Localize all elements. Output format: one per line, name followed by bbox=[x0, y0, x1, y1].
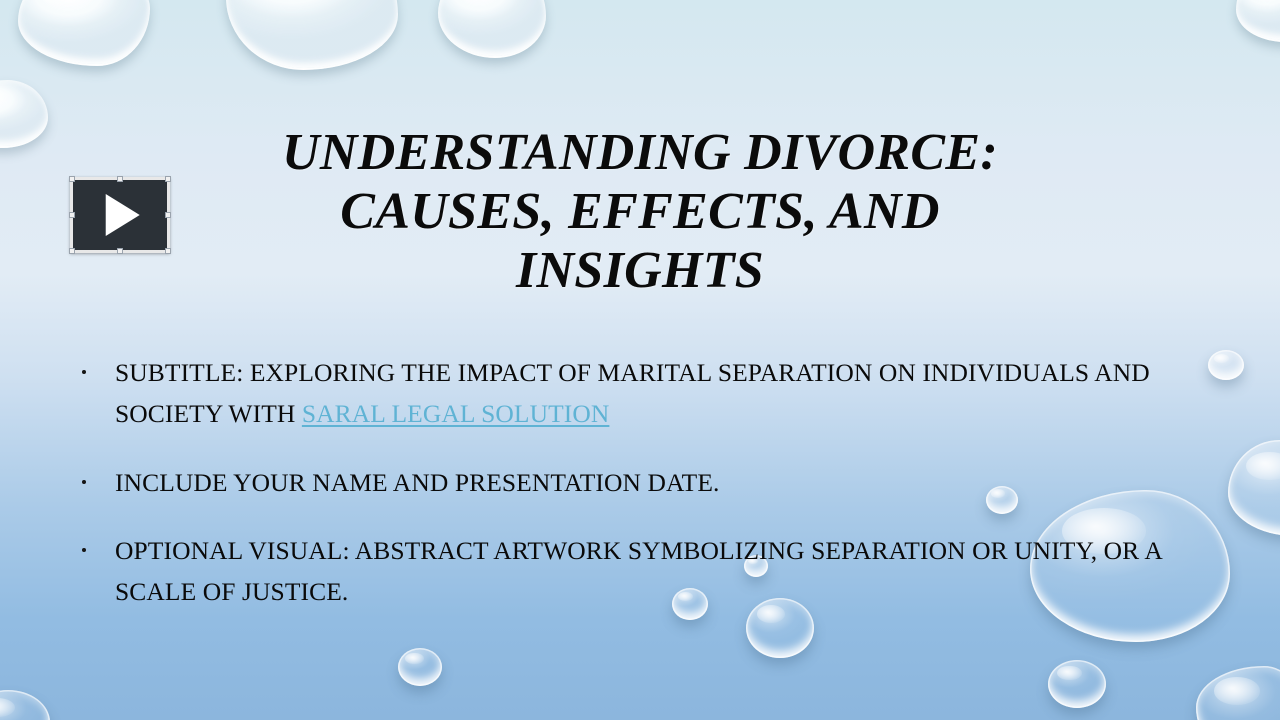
resize-handle-bottom-left[interactable] bbox=[69, 248, 75, 254]
slide-title-line-1: UNDERSTANDING DIVORCE: bbox=[200, 123, 1080, 182]
bullet-text: SUBTITLE: EXPLORING THE IMPACT OF MARITA… bbox=[115, 358, 1150, 428]
resize-handle-top-center[interactable] bbox=[117, 176, 123, 182]
bullet-marker-icon bbox=[82, 548, 86, 552]
droplet-top-right-edge bbox=[1236, 0, 1280, 42]
video-placeholder[interactable] bbox=[70, 177, 170, 253]
slide-title-line-2: CAUSES, EFFECTS, AND bbox=[200, 182, 1080, 241]
resize-handle-middle-left[interactable] bbox=[69, 212, 75, 218]
bullet-marker-icon bbox=[82, 480, 86, 484]
bullet-text: OPTIONAL VISUAL: ABSTRACT ARTWORK SYMBOL… bbox=[115, 536, 1161, 606]
resize-handle-top-left[interactable] bbox=[69, 176, 75, 182]
slide-bullet-list: SUBTITLE: EXPLORING THE IMPACT OF MARITA… bbox=[78, 352, 1193, 612]
resize-handle-bottom-right[interactable] bbox=[165, 248, 171, 254]
slide-title: UNDERSTANDING DIVORCE: CAUSES, EFFECTS, … bbox=[200, 123, 1080, 301]
list-item: INCLUDE YOUR NAME AND PRESENTATION DATE. bbox=[78, 462, 1193, 503]
droplet-right-upper-large bbox=[1228, 440, 1280, 536]
droplet-bottom-left-edge bbox=[0, 690, 50, 720]
saral-legal-solution-link[interactable]: SARAL LEGAL SOLUTION bbox=[302, 399, 610, 428]
droplet-bottom-right-edge bbox=[1196, 666, 1280, 720]
droplet-bottom-far-right bbox=[1048, 660, 1106, 708]
droplet-top-center bbox=[438, 0, 546, 58]
resize-handle-top-right[interactable] bbox=[165, 176, 171, 182]
play-icon[interactable] bbox=[106, 194, 140, 236]
droplet-top-left-2 bbox=[226, 0, 398, 70]
slide-canvas: UNDERSTANDING DIVORCE: CAUSES, EFFECTS, … bbox=[0, 0, 1280, 720]
resize-handle-bottom-center[interactable] bbox=[117, 248, 123, 254]
droplet-top-left-edge bbox=[0, 80, 48, 148]
list-item: SUBTITLE: EXPLORING THE IMPACT OF MARITA… bbox=[78, 352, 1193, 435]
resize-handle-middle-right[interactable] bbox=[165, 212, 171, 218]
slide-title-line-3: INSIGHTS bbox=[200, 241, 1080, 300]
droplet-bottom-left-small bbox=[398, 648, 442, 686]
droplet-top-left-1 bbox=[18, 0, 150, 66]
bullet-marker-icon bbox=[82, 370, 86, 374]
bullet-text: INCLUDE YOUR NAME AND PRESENTATION DATE. bbox=[115, 468, 720, 497]
list-item: OPTIONAL VISUAL: ABSTRACT ARTWORK SYMBOL… bbox=[78, 530, 1193, 613]
droplet-right-mid-small bbox=[1208, 350, 1244, 380]
